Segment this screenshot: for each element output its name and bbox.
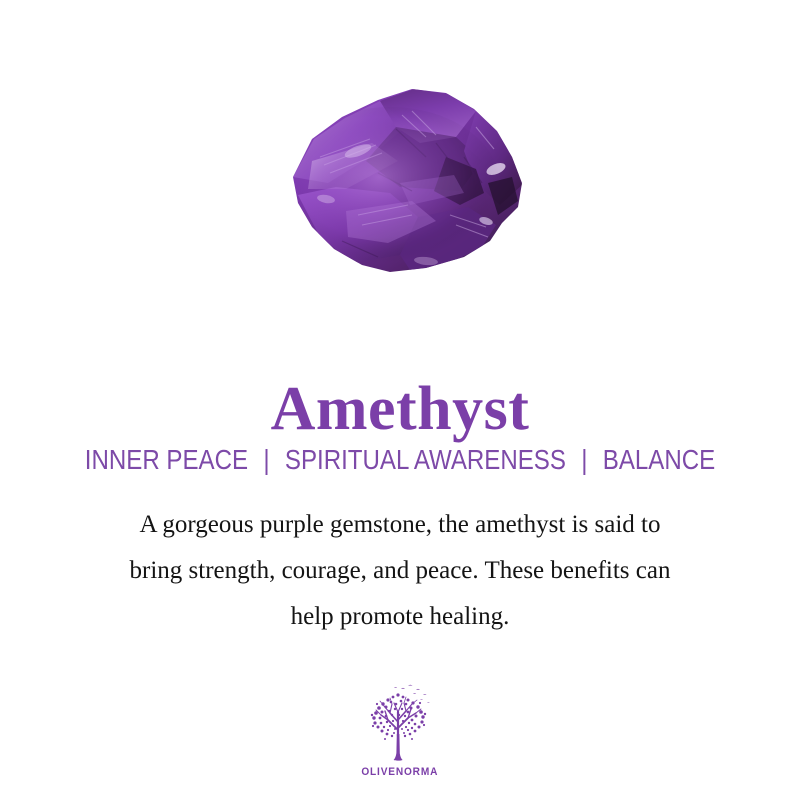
amethyst-crystal-illustration <box>250 65 550 295</box>
amethyst-stone-image <box>0 60 800 300</box>
description-line-1: A gorgeous purple gemstone, the amethyst… <box>60 502 740 548</box>
brand-logo: OLIVENORMA <box>0 682 800 778</box>
keyword-separator-2: | <box>581 443 587 477</box>
description-line-2: bring strength, courage, and peace. Thes… <box>60 548 740 594</box>
description-line-3: help promote healing. <box>60 594 740 640</box>
keyword-separator-1: | <box>263 443 269 477</box>
keyword-inner-peace: INNER PEACE <box>85 443 248 477</box>
description-text: A gorgeous purple gemstone, the amethyst… <box>60 502 740 640</box>
tree-of-life-icon <box>361 682 439 764</box>
keyword-line: INNER PEACE | SPIRITUAL AWARENESS | BALA… <box>56 443 744 477</box>
keyword-balance: BALANCE <box>603 443 715 477</box>
amethyst-product-card: Amethyst INNER PEACE | SPIRITUAL AWARENE… <box>0 0 800 800</box>
keyword-spiritual-awareness: SPIRITUAL AWARENESS <box>285 443 566 477</box>
brand-wordmark: OLIVENORMA <box>362 766 439 778</box>
birds-icon <box>394 685 430 703</box>
page-title: Amethyst <box>0 378 800 440</box>
